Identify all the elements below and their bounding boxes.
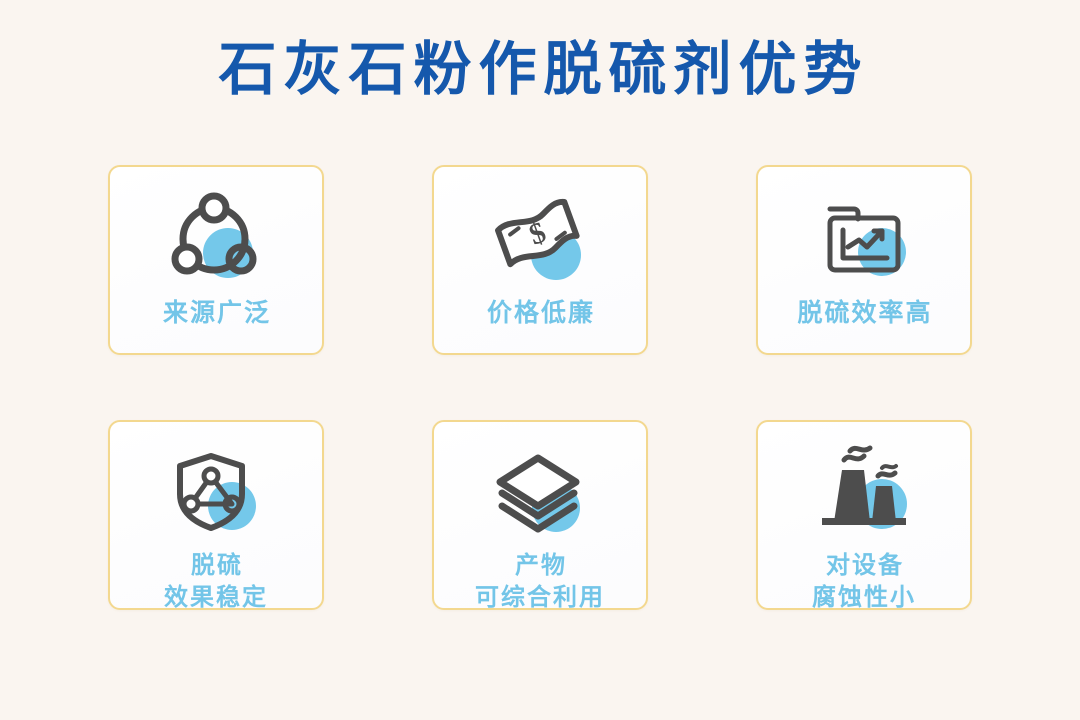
advantage-card-label: 产物 可综合利用	[434, 550, 646, 610]
folder-chart-icon	[804, 183, 924, 295]
advantage-card-label: 对设备 腐蚀性小	[758, 550, 970, 610]
advantage-card-byproduct[interactable]: 产物 可综合利用	[432, 420, 648, 610]
advantage-card-source[interactable]: 来源广泛	[108, 165, 324, 355]
banknote-icon: $	[480, 183, 600, 295]
layers-stack-icon	[480, 438, 600, 550]
shield-network-icon	[156, 438, 276, 550]
advantage-card-label: 价格低廉	[434, 297, 646, 330]
infographic-page: 石灰石粉作脱硫剂优势 来源广泛	[0, 0, 1080, 720]
advantage-card-label: 脱硫效率高	[758, 297, 970, 330]
page-title: 石灰石粉作脱硫剂优势	[0, 34, 1080, 106]
advantages-card-grid: 来源广泛 $ 价格低廉	[108, 165, 972, 610]
factory-towers-icon	[804, 438, 924, 550]
advantage-card-stability[interactable]: 脱硫 效果稳定	[108, 420, 324, 610]
advantage-card-corrosion[interactable]: 对设备 腐蚀性小	[756, 420, 972, 610]
advantage-card-efficiency[interactable]: 脱硫效率高	[756, 165, 972, 355]
advantage-card-price[interactable]: $ 价格低廉	[432, 165, 648, 355]
advantage-card-label: 来源广泛	[110, 297, 322, 330]
share-network-icon	[156, 183, 276, 295]
advantage-card-label: 脱硫 效果稳定	[110, 550, 322, 610]
